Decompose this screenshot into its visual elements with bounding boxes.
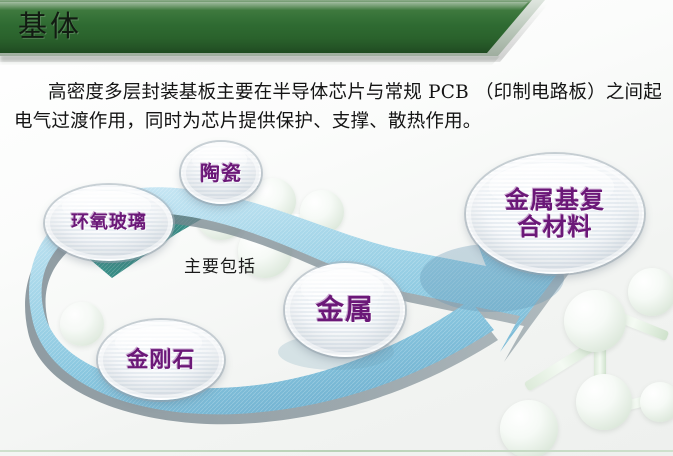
orb-metal-matrix-composite-label: 金属基复 合材料: [505, 187, 605, 241]
page-title: 基体: [18, 6, 82, 46]
orb-epoxy-glass[interactable]: 环氧玻璃: [45, 185, 173, 261]
orb-metal[interactable]: 金属: [285, 263, 405, 357]
orb-ceramic[interactable]: 陶瓷: [181, 142, 261, 204]
body-paragraph: 高密度多层封装基板主要在半导体芯片与常规 PCB （印制电路板）之间起电气过渡作…: [14, 78, 662, 136]
orb-metal-matrix-composite[interactable]: 金属基复 合材料: [466, 154, 644, 274]
includes-label: 主要包括: [184, 252, 256, 277]
orb-diamond[interactable]: 金刚石: [98, 320, 224, 400]
footer-divider: [0, 450, 673, 452]
orb-metal-label: 金属: [316, 294, 374, 325]
orb-diamond-label: 金刚石: [126, 348, 195, 373]
banner-underline: [0, 56, 500, 65]
orb-epoxy-glass-label: 环氧玻璃: [71, 213, 147, 233]
slide-canvas: 基体 高密度多层封装基板主要在半导体芯片与常规 PCB （印制电路板）之间起电气…: [0, 0, 673, 456]
orb-ceramic-label: 陶瓷: [200, 162, 242, 184]
